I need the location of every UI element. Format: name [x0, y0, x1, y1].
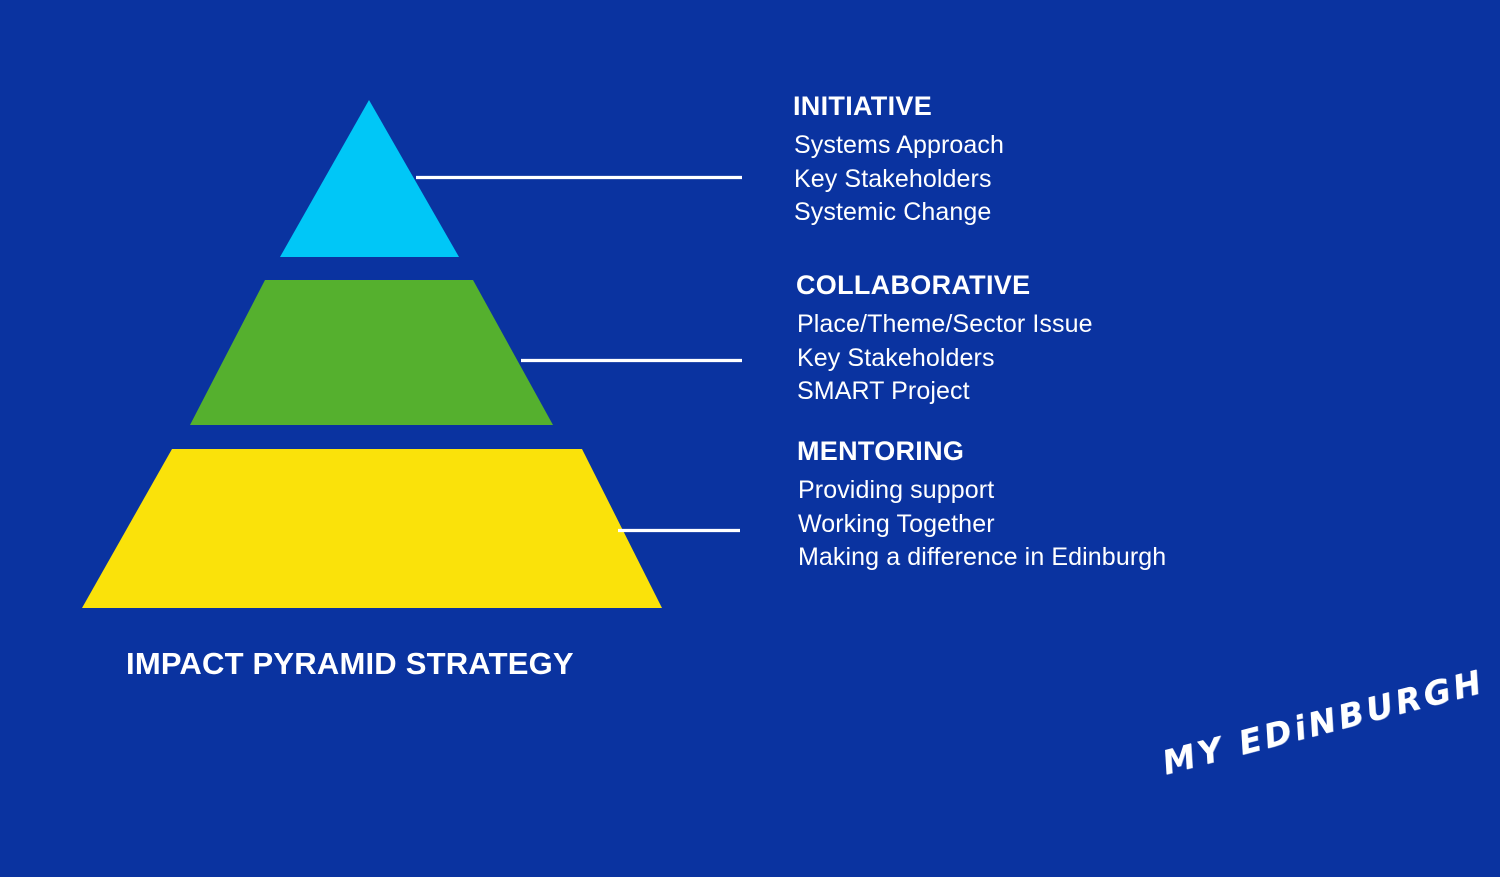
tier-text-mentoring: MENTORING Providing support Working Toge…	[797, 438, 1166, 575]
tier-heading-collaborative: COLLABORATIVE	[796, 272, 1093, 299]
pyramid-tier-mentoring	[82, 449, 662, 608]
tier-line-item: Place/Theme/Sector Issue	[797, 308, 1093, 342]
brand-wordmark: MY EDiNBURGH	[1158, 662, 1488, 783]
tier-line-item: Working Together	[798, 508, 1166, 542]
tier-lines-initiative: Systems Approach Key Stakeholders System…	[794, 129, 1004, 230]
tier-text-collaborative: COLLABORATIVE Place/Theme/Sector Issue K…	[796, 272, 1093, 409]
tier-line-item: SMART Project	[797, 375, 1093, 409]
tier-line-item: Providing support	[798, 474, 1166, 508]
tier-line-item: Making a difference in Edinburgh	[798, 541, 1166, 575]
tier-line-item: Key Stakeholders	[797, 342, 1093, 376]
tier-line-item: Systemic Change	[794, 196, 1004, 230]
tier-line-item: Systems Approach	[794, 129, 1004, 163]
tier-lines-mentoring: Providing support Working Together Makin…	[798, 474, 1166, 575]
tier-text-initiative: INITIATIVE Systems Approach Key Stakehol…	[793, 93, 1004, 230]
diagram-title: IMPACT PYRAMID STRATEGY	[126, 646, 574, 682]
pyramid-diagram-canvas: IMPACT PYRAMID STRATEGY INITIATIVE Syste…	[0, 0, 1500, 877]
pyramid-tier-collaborative	[190, 280, 553, 425]
tier-lines-collaborative: Place/Theme/Sector Issue Key Stakeholder…	[797, 308, 1093, 409]
tier-heading-mentoring: MENTORING	[797, 438, 1166, 465]
pyramid-tier-initiative	[280, 100, 459, 257]
tier-heading-initiative: INITIATIVE	[793, 93, 1004, 120]
tier-line-item: Key Stakeholders	[794, 163, 1004, 197]
